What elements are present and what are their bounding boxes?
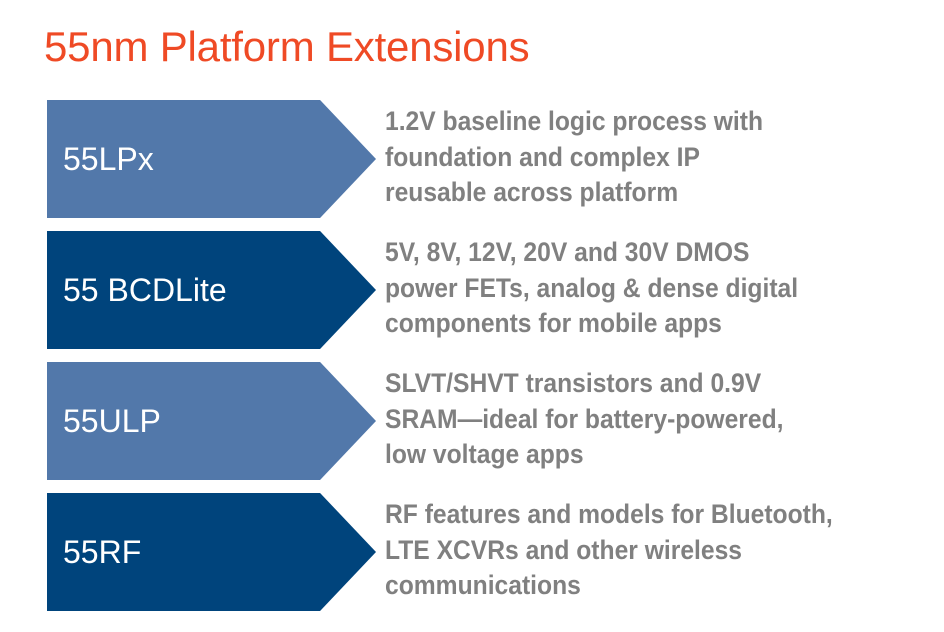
platform-row: 55ULP SLVT/SHVT transistors and 0.9V SRA… <box>0 362 944 480</box>
description-line: RF features and models for Bluetooth, <box>385 497 878 533</box>
arrow-label: 55RF <box>47 534 141 570</box>
platform-row: 55RF RF features and models for Bluetoot… <box>0 493 944 611</box>
arrow-shape-55rf[interactable]: 55RF <box>47 493 376 611</box>
description-line: low voltage apps <box>385 437 878 473</box>
description-block: 5V, 8V, 12V, 20V and 30V DMOS power FETs… <box>385 235 878 342</box>
description-line: components for mobile apps <box>385 306 878 342</box>
description-block: SLVT/SHVT transistors and 0.9V SRAM—idea… <box>385 366 878 473</box>
description-line: communications <box>385 568 878 604</box>
slide-canvas: 55nm Platform Extensions 55LPx 1.2V base… <box>0 0 944 632</box>
description-line: reusable across platform <box>385 175 878 211</box>
description-line: LTE XCVRs and other wireless <box>385 533 878 569</box>
arrow-shape-55lpx[interactable]: 55LPx <box>47 100 376 218</box>
description-line: 1.2V baseline logic process with <box>385 104 878 140</box>
page-title: 55nm Platform Extensions <box>44 22 529 72</box>
description-line: SLVT/SHVT transistors and 0.9V <box>385 366 878 402</box>
platform-row: 55 BCDLite 5V, 8V, 12V, 20V and 30V DMOS… <box>0 231 944 349</box>
description-block: 1.2V baseline logic process with foundat… <box>385 104 878 211</box>
arrow-shape-55ulp[interactable]: 55ULP <box>47 362 376 480</box>
arrow-label: 55ULP <box>47 403 161 439</box>
arrow-label: 55 BCDLite <box>47 272 227 308</box>
description-block: RF features and models for Bluetooth, LT… <box>385 497 878 604</box>
description-line: foundation and complex IP <box>385 140 878 176</box>
platform-row: 55LPx 1.2V baseline logic process with f… <box>0 100 944 218</box>
description-line: 5V, 8V, 12V, 20V and 30V DMOS <box>385 235 878 271</box>
arrow-shape-55-bcdlite[interactable]: 55 BCDLite <box>47 231 376 349</box>
description-line: power FETs, analog & dense digital <box>385 271 878 307</box>
arrow-label: 55LPx <box>47 141 154 177</box>
description-line: SRAM—ideal for battery-powered, <box>385 402 878 438</box>
